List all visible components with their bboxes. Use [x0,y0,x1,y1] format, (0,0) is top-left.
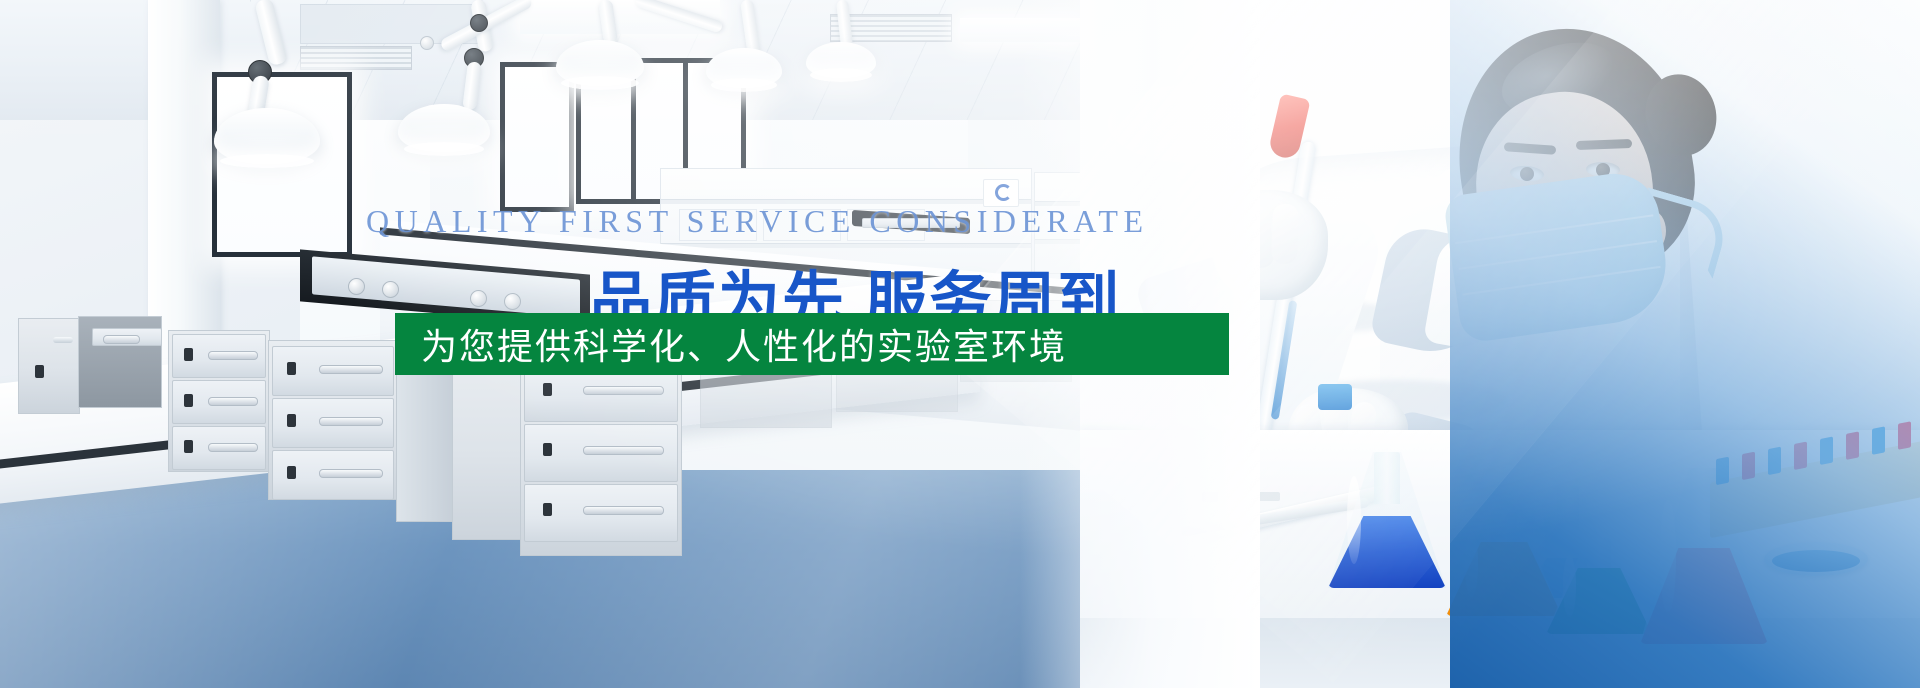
banner-subtitle-band: 为您提供科学化、人性化的实验室环境 [395,313,1229,375]
hero-banner: QUALITY FIRST SERVICE CONSIDERATE 品质为先 服… [0,0,1920,688]
banner-text-layer: QUALITY FIRST SERVICE CONSIDERATE 品质为先 服… [0,0,1920,688]
banner-eyebrow-text: QUALITY FIRST SERVICE CONSIDERATE [366,203,1149,240]
banner-subtitle-text: 为您提供科学化、人性化的实验室环境 [421,318,1067,370]
